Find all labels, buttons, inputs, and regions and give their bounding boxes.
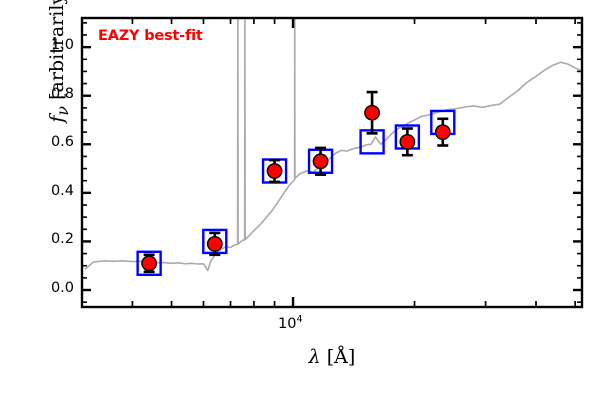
y-tick-label: 0.2 — [28, 231, 74, 247]
y-tick-label: 0.4 — [28, 183, 74, 199]
observed-flux-point — [365, 106, 379, 120]
observed-photometry — [142, 92, 450, 272]
x-tick-exponent: 4 — [296, 314, 302, 325]
x-tick-label: 104 — [278, 314, 303, 332]
figure-canvas: fν [arbitrarily scaled] λ [Å] EAZY best-… — [0, 0, 600, 400]
observed-flux-point — [436, 125, 450, 139]
annotation-eazy-best-fit: EAZY best-fit — [98, 28, 203, 44]
y-tick-label: 1.0 — [28, 37, 74, 53]
observed-flux-point — [400, 135, 414, 149]
y-tick-label: 0.6 — [28, 134, 74, 150]
y-tick-label: 0.8 — [28, 86, 74, 102]
x-axis-label: λ [Å] — [82, 346, 582, 368]
x-axis-label-symbol: λ — [309, 346, 321, 368]
observed-flux-point — [313, 154, 327, 168]
plot-svg — [0, 0, 600, 400]
x-tick-mantissa: 10 — [278, 316, 296, 332]
x-axis-label-unit: [Å] — [327, 346, 356, 368]
observed-flux-point — [142, 256, 156, 270]
spectrum-curve — [85, 18, 580, 271]
observed-flux-point — [208, 237, 222, 251]
observed-flux-point — [267, 164, 281, 178]
y-tick-label: 0.0 — [28, 280, 74, 296]
